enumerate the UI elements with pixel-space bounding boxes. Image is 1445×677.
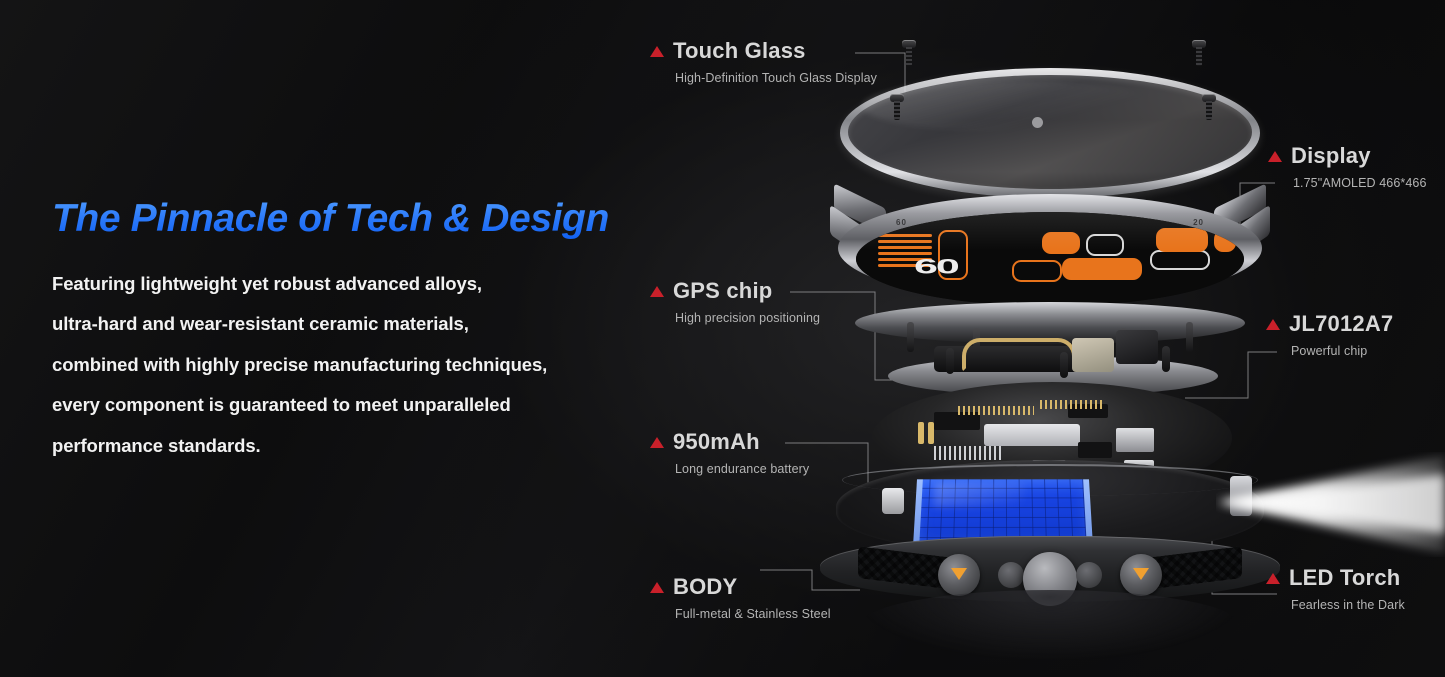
screw-icon <box>902 40 916 66</box>
callout-title-row: BODY <box>650 576 831 598</box>
callout-title-row: JL7012A7 <box>1266 313 1393 335</box>
callout-gps-chip: GPS chip High precision positioning <box>650 280 820 325</box>
gps-sensor-block <box>1116 330 1158 364</box>
touch-glass-layer <box>840 68 1260 198</box>
frame-post <box>1162 346 1170 372</box>
triangle-marker-icon <box>650 582 664 593</box>
callout-subtitle: High-Definition Touch Glass Display <box>675 71 877 85</box>
screw-icon <box>1192 40 1206 66</box>
glass-highlight <box>862 80 1162 132</box>
callout-title-row: Touch Glass <box>650 40 877 62</box>
callout-subtitle: Long endurance battery <box>675 462 809 476</box>
triangle-icon <box>951 568 967 580</box>
led-torch-module <box>1230 476 1252 516</box>
triangle-marker-icon <box>650 286 664 297</box>
description-line: every component is guaranteed to meet un… <box>52 396 622 415</box>
frame-post <box>1060 352 1068 378</box>
callout-title: Touch Glass <box>673 40 806 62</box>
callout-subtitle: Full-metal & Stainless Steel <box>675 607 831 621</box>
board-pin-row <box>934 446 1004 460</box>
callout-title-row: 950mAh <box>650 431 809 453</box>
product-feature-banner: The Pinnacle of Tech & Design Featuring … <box>0 0 1445 677</box>
triangle-marker-icon <box>1266 573 1280 584</box>
board-ic <box>1078 442 1112 458</box>
page-title: The Pinnacle of Tech & Design <box>52 198 622 241</box>
callout-title: JL7012A7 <box>1289 313 1393 335</box>
description-line: combined with highly precise manufacturi… <box>52 356 622 375</box>
callout-subtitle: Powerful chip <box>1291 344 1393 358</box>
callout-title: Display <box>1291 145 1371 167</box>
case-shadow <box>860 590 1240 660</box>
board-pin-row <box>958 406 1034 415</box>
copy-block: The Pinnacle of Tech & Design Featuring … <box>52 198 622 477</box>
gps-shield <box>1072 338 1114 372</box>
side-sensor-right <box>1076 562 1102 588</box>
side-button-upper[interactable] <box>938 554 980 596</box>
callout-title: 950mAh <box>673 431 760 453</box>
callout-title-row: Display <box>1268 145 1427 167</box>
callout-body: BODY Full-metal & Stainless Steel <box>650 576 831 621</box>
callout-title: LED Torch <box>1289 567 1400 589</box>
callout-battery: 950mAh Long endurance battery <box>650 431 809 476</box>
side-sensor-left <box>998 562 1024 588</box>
exploded-watch-assembly: 60 20 60 <box>810 30 1290 650</box>
watch-face-reading: 60 <box>914 254 958 279</box>
triangle-marker-icon <box>650 437 664 448</box>
board-pad <box>928 422 934 444</box>
glass-sensor-dot <box>1032 117 1043 128</box>
callout-title-row: LED Torch <box>1266 567 1405 589</box>
triangle-marker-icon <box>1268 151 1282 162</box>
callout-subtitle: Fearless in the Dark <box>1291 598 1405 612</box>
callout-title: GPS chip <box>673 280 772 302</box>
callout-main-chip: JL7012A7 Powerful chip <box>1266 313 1393 358</box>
board-pin-row <box>1040 400 1104 409</box>
callout-subtitle: 1.75"AMOLED 466*466 <box>1293 176 1427 190</box>
callout-touch-glass: Touch Glass High-Definition Touch Glass … <box>650 40 877 85</box>
callout-led-torch: LED Torch Fearless in the Dark <box>1266 567 1405 612</box>
description-line: performance standards. <box>52 437 622 456</box>
board-pad <box>918 422 924 444</box>
screw-icon <box>1202 94 1216 120</box>
triangle-marker-icon <box>1266 319 1280 330</box>
charging-contact <box>882 488 904 514</box>
side-button-lower[interactable] <box>1120 554 1162 596</box>
body-layer <box>820 460 1280 660</box>
frame-post <box>946 348 954 374</box>
callout-subtitle: High precision positioning <box>675 311 820 325</box>
board-connector <box>984 424 1080 446</box>
description-paragraph: Featuring lightweight yet robust advance… <box>52 275 622 456</box>
callout-display: Display 1.75"AMOLED 466*466 <box>1268 145 1427 190</box>
triangle-icon <box>1133 568 1149 580</box>
callout-title: BODY <box>673 576 737 598</box>
description-line: ultra-hard and wear-resistant ceramic ma… <box>52 315 622 334</box>
board-shield <box>1116 428 1154 452</box>
callout-title-row: GPS chip <box>650 280 820 302</box>
screw-icon <box>890 94 904 120</box>
gps-antenna <box>962 338 1076 372</box>
triangle-marker-icon <box>650 46 664 57</box>
description-line: Featuring lightweight yet robust advance… <box>52 275 622 294</box>
